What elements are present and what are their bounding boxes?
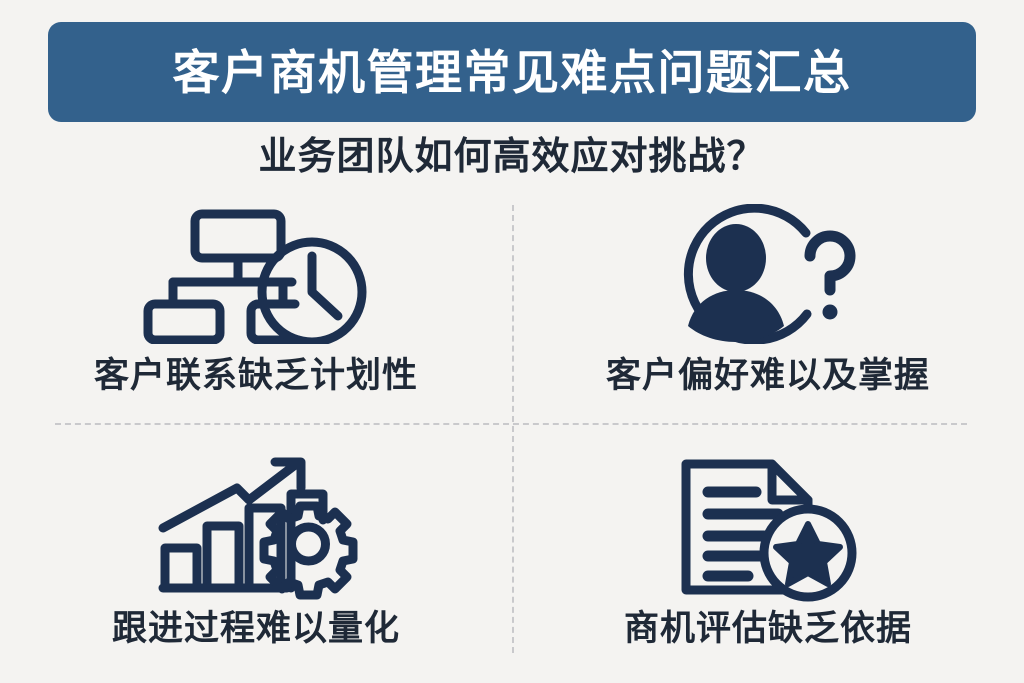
- pain-point-grid: 客户联系缺乏计划性 客户偏好难以及掌握: [0, 196, 1024, 666]
- grid-cell-follow-up-quantify: 跟进过程难以量化: [0, 431, 512, 666]
- growth-chart-gear-icon: [131, 457, 381, 597]
- pain-point-label: 跟进过程难以量化: [112, 611, 400, 646]
- page-title: 客户商机管理常见难点问题汇总: [173, 49, 852, 96]
- grid-cell-customer-preference: 客户偏好难以及掌握: [512, 196, 1024, 431]
- pain-point-label: 客户联系缺乏计划性: [94, 358, 418, 393]
- pain-point-label: 客户偏好难以及掌握: [606, 358, 930, 393]
- infographic-poster: 客户商机管理常见难点问题汇总 业务团队如何高效应对挑战？: [0, 0, 1024, 683]
- page-subtitle: 业务团队如何高效应对挑战？: [0, 138, 1024, 176]
- document-star-icon: [643, 457, 893, 597]
- user-question-icon: [643, 204, 893, 344]
- org-chart-clock-icon: [131, 204, 381, 344]
- title-bar: 客户商机管理常见难点问题汇总: [48, 22, 976, 122]
- grid-cell-customer-contact-planning: 客户联系缺乏计划性: [0, 196, 512, 431]
- pain-point-label: 商机评估缺乏依据: [624, 611, 912, 646]
- grid-cell-opportunity-evaluation: 商机评估缺乏依据: [512, 431, 1024, 666]
